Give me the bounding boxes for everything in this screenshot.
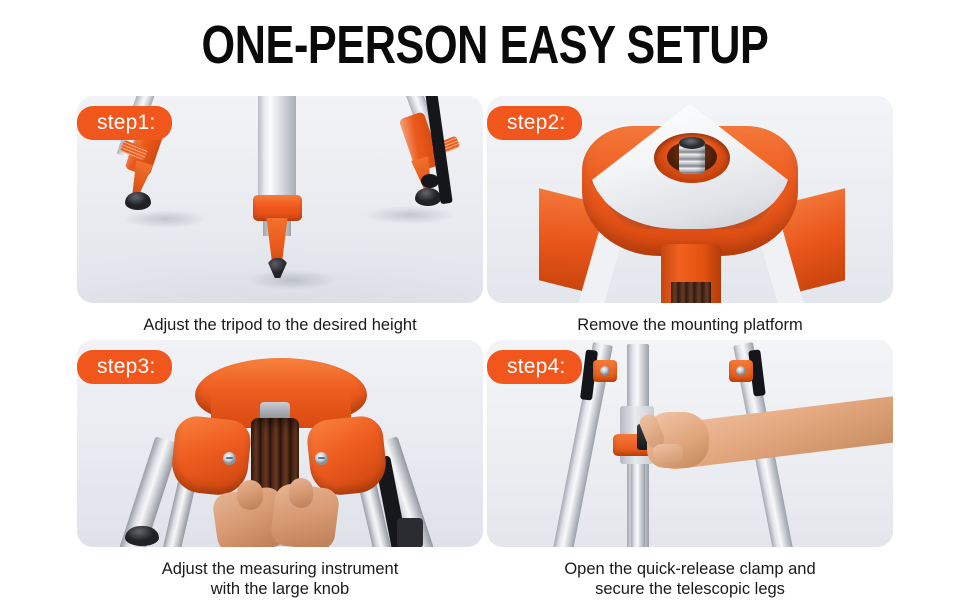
page-title: ONE-PERSON EASY SETUP: [97, 14, 873, 76]
quick-release-clamp-left: [593, 360, 617, 382]
rubber-foot-right: [415, 188, 441, 206]
step-caption-4: Open the quick-release clamp and secure …: [487, 547, 893, 599]
clamp-screw-right: [736, 366, 746, 376]
thumb-right: [289, 478, 313, 508]
clamp-screw-left: [600, 366, 610, 376]
thumb-left: [237, 480, 263, 510]
step-badge-1: step1:: [77, 106, 172, 140]
strap-pad: [397, 518, 423, 547]
quick-release-clamp-right: [729, 360, 753, 382]
center-column: [258, 96, 296, 204]
steps-grid: step1: Adjust the tripod to the desired …: [77, 96, 893, 588]
step-panel-3: step3:: [77, 340, 483, 547]
step-badge-2: step2:: [487, 106, 582, 140]
step-panel-2: step2:: [487, 96, 893, 303]
step-cell-3: step3: Adjust the measuring instrument w…: [77, 340, 483, 588]
product-infographic: ONE-PERSON EASY SETUP: [0, 0, 970, 600]
finger-thumb: [653, 444, 683, 462]
step-cell-4: step4: Open the quick-release clamp and …: [487, 340, 893, 588]
step-cell-2: step2: Remove the mounting platform: [487, 96, 893, 340]
leg-shadow-center: [227, 266, 357, 294]
step-badge-4: step4:: [487, 350, 582, 384]
strap-buckle: [421, 174, 439, 188]
hinge-screw-right: [315, 452, 328, 465]
center-collar: [253, 195, 302, 221]
step-caption-3: Adjust the measuring instrument with the…: [77, 547, 483, 599]
step-panel-4: step4:: [487, 340, 893, 547]
step-cell-1: step1: Adjust the tripod to the desired …: [77, 96, 483, 340]
step-panel-1: step1:: [77, 96, 483, 303]
rubber-foot-left: [125, 526, 159, 546]
leg-shadow-right: [345, 202, 475, 228]
leg-shadow-left: [105, 206, 225, 232]
center-stem-knob: [671, 282, 711, 303]
rubber-foot-left: [125, 192, 151, 210]
screw-head: [679, 137, 705, 149]
hinge-screw-left: [223, 452, 236, 465]
step-caption-2: Remove the mounting platform: [487, 303, 893, 335]
step-badge-3: step3:: [77, 350, 172, 384]
step-caption-1: Adjust the tripod to the desired height: [77, 303, 483, 335]
tripod-leg-center-inner: [631, 450, 645, 547]
